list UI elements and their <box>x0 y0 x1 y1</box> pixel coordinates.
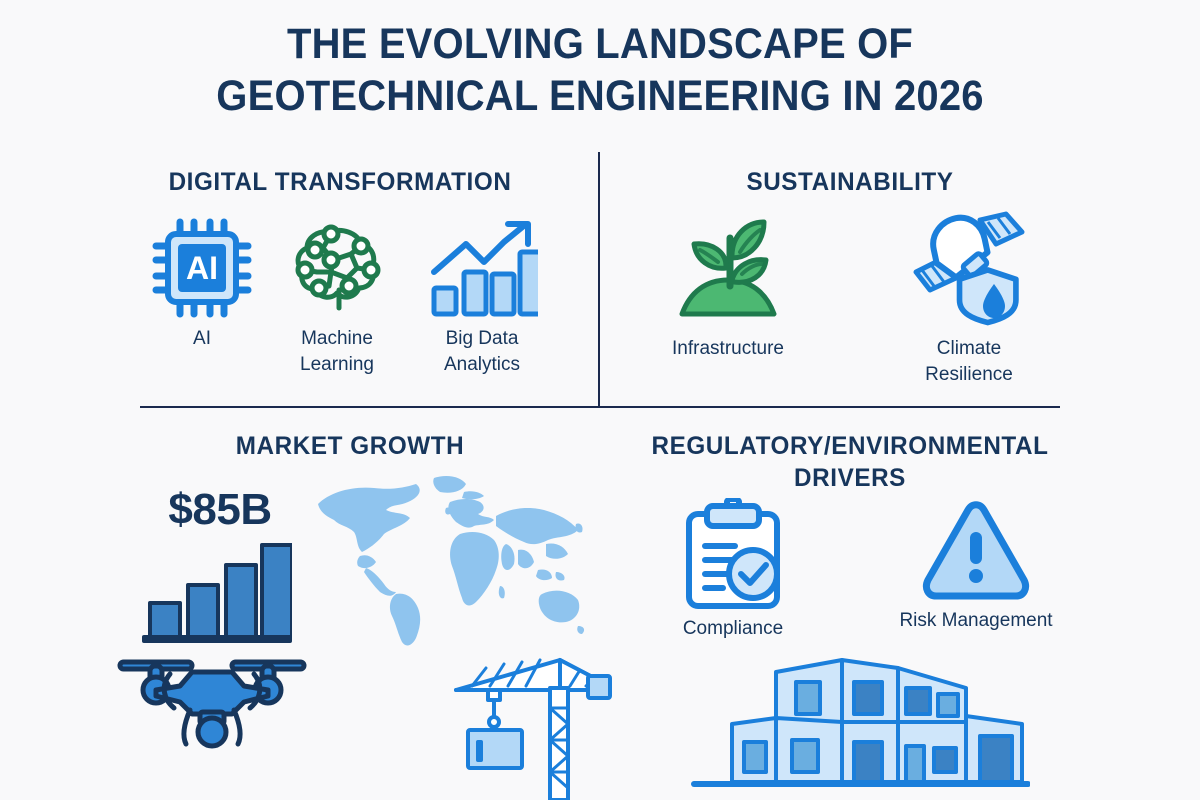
market-growth-value: $85B <box>140 485 300 535</box>
item-machine-learning-label-line-1: Machine <box>276 326 398 352</box>
heading-market-growth: MARKET GROWTH <box>137 430 564 462</box>
warning-triangle-icon <box>920 498 1032 602</box>
ai-chip-icon: AI <box>150 216 254 320</box>
item-machine-learning-label: Machine Learning <box>276 326 398 378</box>
title-line-2: GEOTECHNICAL ENGINEERING IN 2026 <box>42 70 1158 122</box>
item-compliance: Compliance <box>658 498 808 642</box>
brain-network-icon <box>285 216 389 320</box>
item-infrastructure: Infrastructure <box>648 210 808 362</box>
item-climate-resilience-label: Climate Resilience <box>888 336 1050 388</box>
item-climate-resilience-label-line-1: Climate <box>888 336 1050 362</box>
heading-sustainability: SUSTAINABILITY <box>637 166 1064 198</box>
item-infrastructure-label: Infrastructure <box>648 336 808 362</box>
horizontal-divider <box>140 406 1060 408</box>
item-big-data-analytics: Big Data Analytics <box>418 216 546 378</box>
bar-3 <box>226 565 256 637</box>
item-climate-resilience: Climate Resilience <box>888 210 1050 388</box>
satellite-shield-icon <box>906 210 1032 330</box>
market-growth-bar-chart <box>142 535 292 645</box>
item-big-data-analytics-label-line-2: Analytics <box>418 352 546 378</box>
heading-regulatory-drivers: REGULATORY/ENVIRONMENTAL DRIVERS <box>617 430 1083 494</box>
tower-crane-icon <box>452 648 612 800</box>
item-ai: AI AI <box>142 216 262 352</box>
drone-icon <box>112 652 312 762</box>
seedling-icon <box>668 210 788 330</box>
item-compliance-label: Compliance <box>658 616 808 642</box>
ai-chip-badge-label: AI <box>186 250 218 286</box>
bar-chart-growth-icon <box>426 216 538 320</box>
bar-chart-baseline <box>142 635 292 643</box>
item-ai-label: AI <box>142 326 262 352</box>
heading-regulatory-line-2: DRIVERS <box>617 462 1083 494</box>
vertical-divider <box>598 152 600 407</box>
bar-1 <box>150 603 180 637</box>
title-line-1: THE EVOLVING LANDSCAPE OF <box>42 18 1158 70</box>
clipboard-check-icon <box>679 498 787 610</box>
bar-2 <box>188 585 218 637</box>
infographic-canvas: THE EVOLVING LANDSCAPE OF GEOTECHNICAL E… <box>0 0 1200 800</box>
item-big-data-analytics-label-line-1: Big Data <box>418 326 546 352</box>
heading-regulatory-line-1: REGULATORY/ENVIRONMENTAL <box>617 430 1083 462</box>
heading-digital-transformation: DIGITAL TRANSFORMATION <box>127 166 554 198</box>
world-map-icon <box>300 468 590 648</box>
item-machine-learning: Machine Learning <box>276 216 398 378</box>
item-big-data-analytics-label: Big Data Analytics <box>418 326 546 378</box>
item-risk-management-label: Risk Management <box>872 608 1080 634</box>
item-risk-management: Risk Management <box>872 498 1080 634</box>
item-machine-learning-label-line-2: Learning <box>276 352 398 378</box>
item-climate-resilience-label-line-2: Resilience <box>888 362 1050 388</box>
bar-4 <box>262 545 292 637</box>
page-title: THE EVOLVING LANDSCAPE OF GEOTECHNICAL E… <box>0 18 1200 122</box>
modular-building-icon <box>690 646 1030 800</box>
